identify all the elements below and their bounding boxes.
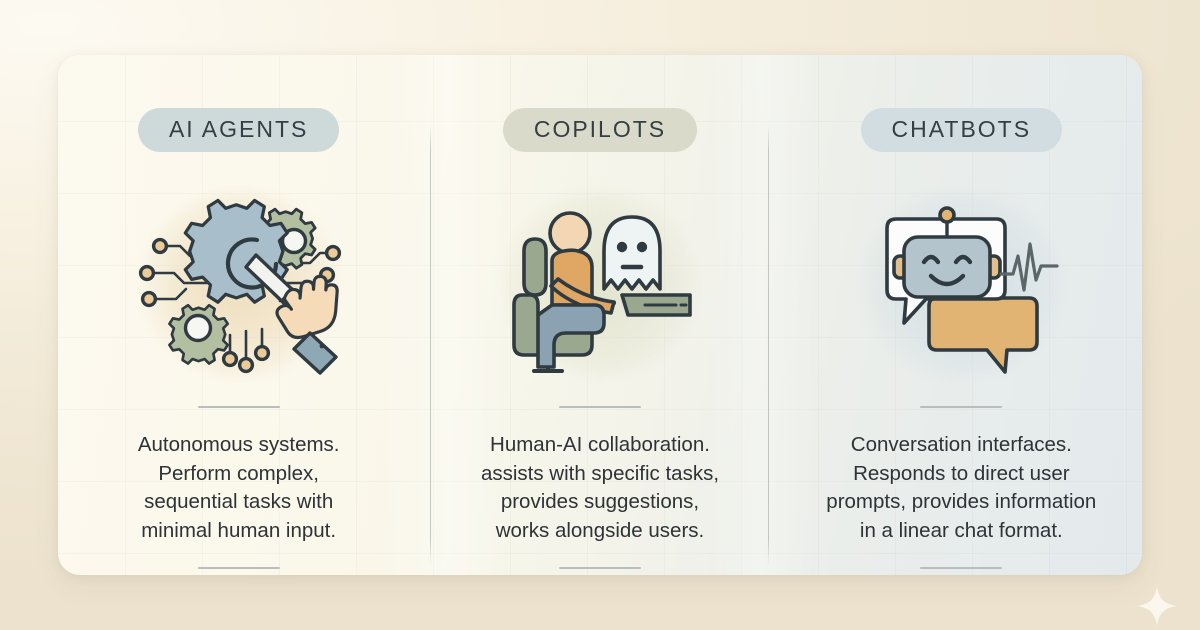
badge-chatbots[interactable]: CHATBOTS: [861, 108, 1063, 152]
infographic-card: AI AGENTS: [58, 55, 1142, 575]
desc-line: Autonomous systems.: [138, 431, 340, 460]
column-chatbots: CHATBOTS: [781, 55, 1142, 575]
desc-line: sequential tasks with: [138, 488, 340, 517]
illustration-copilots: [485, 184, 715, 384]
description-ai-agents: Autonomous systems. Perform complex, seq…: [138, 431, 340, 545]
desc-line: works alongside users.: [481, 517, 719, 546]
badge-copilots[interactable]: COPILOTS: [503, 108, 697, 152]
robot-speech-bubble-icon: [861, 194, 1061, 374]
illustration-chatbots: [846, 184, 1076, 384]
desc-line: Responds to direct user: [826, 460, 1096, 489]
rule-top: [920, 406, 1002, 408]
column-copilots: COPILOTS: [419, 55, 780, 575]
description-chatbots: Conversation interfaces. Responds to dir…: [826, 431, 1096, 545]
rule-top: [198, 406, 280, 408]
column-ai-agents: AI AGENTS: [58, 55, 419, 575]
desc-line: Human-AI collaboration.: [481, 431, 719, 460]
rule-top: [559, 406, 641, 408]
description-copilots: Human-AI collaboration. assists with spe…: [481, 431, 719, 545]
gears-circuit-hand-icon: [134, 189, 344, 379]
rule-bottom: [198, 567, 280, 569]
desc-line: in a linear chat format.: [826, 517, 1096, 546]
badge-ai-agents[interactable]: AI AGENTS: [138, 108, 339, 152]
rule-bottom: [559, 567, 641, 569]
desc-line: assists with specific tasks,: [481, 460, 719, 489]
desc-line: Perform complex,: [138, 460, 340, 489]
desc-line: minimal human input.: [138, 517, 340, 546]
desc-line: Conversation interfaces.: [826, 431, 1096, 460]
desc-line: provides suggestions,: [481, 488, 719, 517]
person-at-desk-with-ai-assistant-icon: [500, 189, 700, 379]
illustration-ai-agents: [124, 184, 354, 384]
rule-bottom: [920, 567, 1002, 569]
desc-line: prompts, provides information: [826, 488, 1096, 517]
columns-container: AI AGENTS: [58, 55, 1142, 575]
